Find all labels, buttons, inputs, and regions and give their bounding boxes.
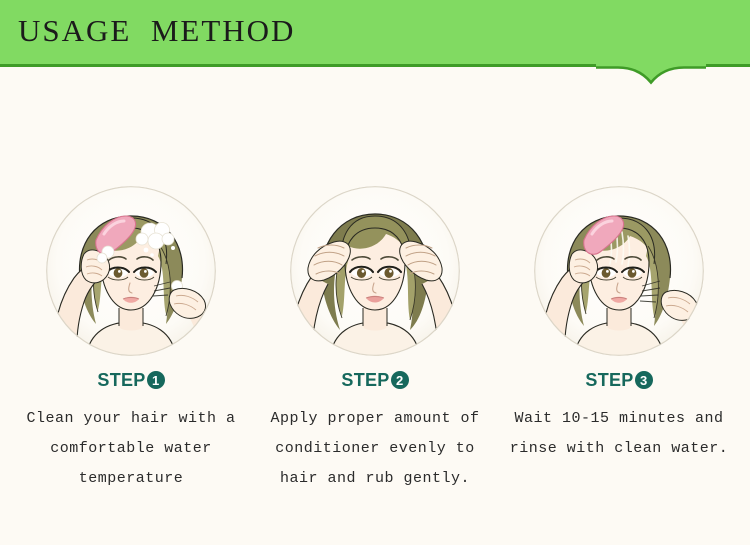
step-1-illustration-woman-applying-product — [46, 186, 216, 356]
step-3-description-line: Wait 10-15 minutes and — [506, 404, 732, 434]
step-2-number-badge: 2 — [391, 371, 409, 389]
step-2-description-line: hair and rub gently. — [262, 464, 488, 494]
step-2-description: Apply proper amount of conditioner evenl… — [262, 404, 488, 494]
step-2-label-text: STEP — [341, 370, 389, 390]
header-banner: USAGE METHOD — [0, 0, 750, 67]
step-card-1: STEP 1 Clean your hair with a comfortabl… — [22, 186, 240, 494]
step-3-description-line: rinse with clean water. — [506, 434, 732, 464]
step-1-label: STEP 1 — [97, 369, 164, 391]
step-2-description-line: Apply proper amount of — [262, 404, 488, 434]
step-3-number-badge: 3 — [635, 371, 653, 389]
step-card-2: STEP 2 Apply proper amount of conditione… — [266, 186, 484, 494]
steps-row: STEP 1 Clean your hair with a comfortabl… — [0, 186, 750, 494]
step-3-description: Wait 10-15 minutes and rinse with clean … — [506, 404, 732, 464]
step-2-illustration-woman-massaging-scalp — [290, 186, 460, 356]
step-2-label: STEP 2 — [341, 369, 408, 391]
step-1-description-line: Clean your hair with a — [18, 404, 244, 434]
step-1-description: Clean your hair with a comfortable water… — [18, 404, 244, 494]
step-2-description-line: conditioner evenly to — [262, 434, 488, 464]
step-3-illustration-woman-rinsing-hair — [534, 186, 704, 356]
page-title: USAGE METHOD — [18, 12, 295, 50]
step-card-3: STEP 3 Wait 10-15 minutes and rinse with… — [510, 186, 728, 494]
step-1-description-line: comfortable water — [18, 434, 244, 464]
step-3-label-text: STEP — [585, 370, 633, 390]
step-1-description-line: temperature — [18, 464, 244, 494]
step-3-label: STEP 3 — [585, 369, 652, 391]
step-1-number-badge: 1 — [147, 371, 165, 389]
step-1-label-text: STEP — [97, 370, 145, 390]
